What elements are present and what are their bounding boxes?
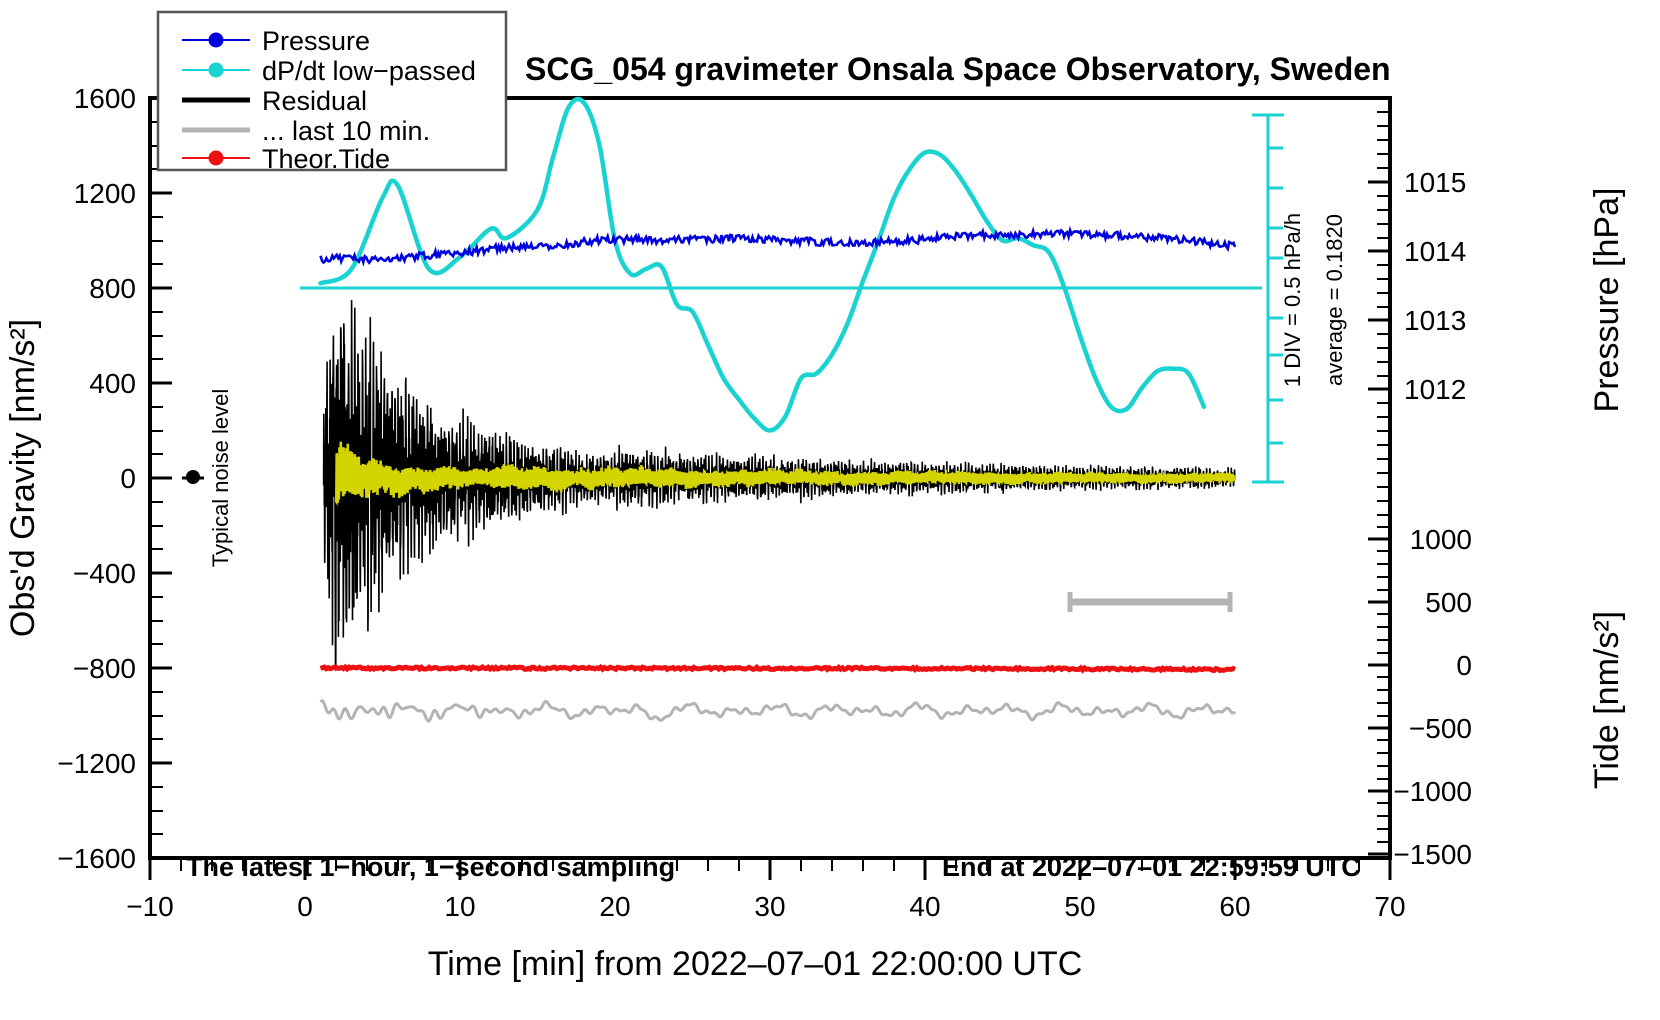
- x-tick-label: 60: [1219, 891, 1250, 922]
- y-tick-label: −1600: [57, 843, 136, 874]
- legend: Pressure dP/dt low−passed Residual ... l…: [158, 12, 506, 174]
- gravimeter-chart: SCG_054 gravimeter Onsala Space Observat…: [0, 0, 1660, 1020]
- x-tick-label: −10: [126, 891, 174, 922]
- legend-label: Pressure: [262, 26, 370, 56]
- y-tick-label: −800: [73, 653, 136, 684]
- y-tick-label: −400: [73, 558, 136, 589]
- legend-label: dP/dt low−passed: [262, 56, 476, 86]
- pressure-tick-label: 1014: [1404, 236, 1466, 267]
- x-tick-label: 40: [909, 891, 940, 922]
- bottom-left-note: The latest 1−hour, 1−second sampling: [186, 852, 675, 882]
- chart-canvas: SCG_054 gravimeter Onsala Space Observat…: [0, 0, 1660, 1020]
- y-axis-title: Obs'd Gravity [nm/s²]: [4, 319, 42, 637]
- dpdt-average-label: average = 0.1820: [1322, 214, 1347, 386]
- y-tick-label: 400: [89, 368, 136, 399]
- x-tick-label: 20: [599, 891, 630, 922]
- pressure-tick-label: 1015: [1404, 167, 1466, 198]
- dpdt-scale-label: 1 DIV = 0.5 hPa/h: [1280, 213, 1305, 387]
- x-tick-label: 50: [1064, 891, 1095, 922]
- y-tick-label: −1200: [57, 748, 136, 779]
- tide-tick-label: −1000: [1393, 776, 1472, 807]
- legend-label: Residual: [262, 86, 367, 116]
- x-tick-label: 10: [444, 891, 475, 922]
- y-tick-label: 1600: [74, 83, 136, 114]
- legend-marker-dot: [209, 63, 224, 78]
- legend-label: Theor.Tide: [262, 144, 390, 174]
- x-tick-label: 0: [297, 891, 313, 922]
- series-theor-tide: [321, 667, 1236, 671]
- x-axis-title: Time [min] from 2022–07–01 22:00:00 UTC: [428, 945, 1083, 983]
- legend-label: ... last 10 min.: [262, 116, 430, 146]
- page-title: SCG_054 gravimeter Onsala Space Observat…: [525, 51, 1391, 87]
- x-tick-label: 70: [1374, 891, 1405, 922]
- y-tick-label: 1200: [74, 178, 136, 209]
- pressure-tick-label: 1012: [1404, 374, 1466, 405]
- tide-tick-label: −500: [1409, 713, 1472, 744]
- x-tick-label: 30: [754, 891, 785, 922]
- legend-marker-dot: [209, 33, 224, 48]
- pressure-axis-title: Pressure [hPa]: [1588, 188, 1626, 413]
- y-tick-label: 800: [89, 273, 136, 304]
- legend-marker-dot: [209, 151, 224, 166]
- typical-noise-level-label: Typical noise level: [208, 389, 233, 568]
- tide-tick-label: 0: [1456, 650, 1472, 681]
- tide-tick-label: −1500: [1393, 839, 1472, 870]
- y-tick-label: 0: [120, 463, 136, 494]
- tide-tick-label: 500: [1425, 587, 1472, 618]
- tide-tick-label: 1000: [1410, 524, 1472, 555]
- tide-axis-title: Tide [nm/s²]: [1588, 611, 1626, 789]
- pressure-tick-label: 1013: [1404, 305, 1466, 336]
- bottom-right-note: End at 2022–07–01 22:59:59 UTC: [942, 852, 1361, 882]
